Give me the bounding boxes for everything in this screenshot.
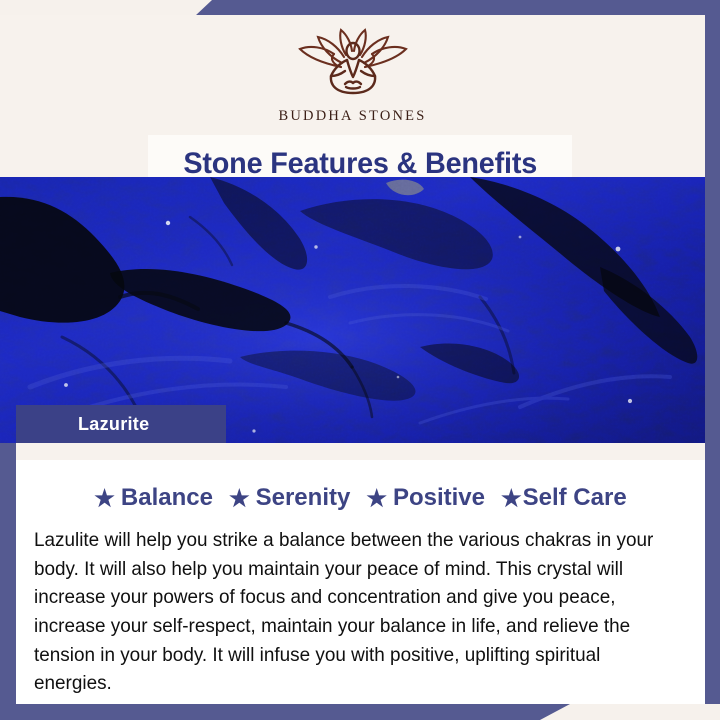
benefit-label: Balance bbox=[121, 484, 213, 512]
header: BUDDHA STONES Stone Features & Benefits bbox=[0, 15, 705, 177]
brand-name: BUDDHA STONES bbox=[279, 108, 427, 125]
stone-name: Lazurite bbox=[78, 414, 149, 435]
bottom-accent-band bbox=[0, 704, 570, 720]
benefit-label: Self Care bbox=[523, 484, 627, 512]
stone-name-badge: Lazurite bbox=[16, 405, 226, 443]
benefit-label: Serenity bbox=[256, 484, 351, 512]
description-section: ★ Balance ★ Serenity ★ Positive ★ Self C… bbox=[16, 443, 705, 704]
top-accent-band bbox=[195, 0, 720, 16]
star-icon: ★ bbox=[94, 487, 115, 510]
description-panel: ★ Balance ★ Serenity ★ Positive ★ Self C… bbox=[16, 460, 705, 704]
stone-features-infographic: BUDDHA STONES Stone Features & Benefits bbox=[0, 0, 720, 720]
brand-logo: BUDDHA STONES bbox=[0, 27, 705, 125]
description-text: Lazulite will help you strike a balance … bbox=[34, 526, 667, 698]
stone-texture-graphic bbox=[0, 177, 705, 443]
page-title: Stone Features & Benefits bbox=[183, 147, 537, 181]
lotus-meditation-icon bbox=[278, 27, 428, 105]
left-accent-band bbox=[0, 430, 16, 704]
benefit-item-balance: ★ Balance bbox=[94, 484, 213, 512]
right-accent-band bbox=[704, 0, 720, 704]
benefits-row: ★ Balance ★ Serenity ★ Positive ★ Self C… bbox=[16, 460, 705, 512]
benefit-label: Positive bbox=[393, 484, 485, 512]
star-icon: ★ bbox=[366, 487, 387, 510]
benefit-item-serenity: ★ Serenity bbox=[229, 484, 350, 512]
benefit-item-positive: ★ Positive bbox=[366, 484, 485, 512]
star-icon: ★ bbox=[501, 487, 522, 510]
star-icon: ★ bbox=[229, 487, 250, 510]
benefit-item-self-care: ★ Self Care bbox=[501, 484, 627, 512]
stone-image bbox=[0, 177, 705, 443]
